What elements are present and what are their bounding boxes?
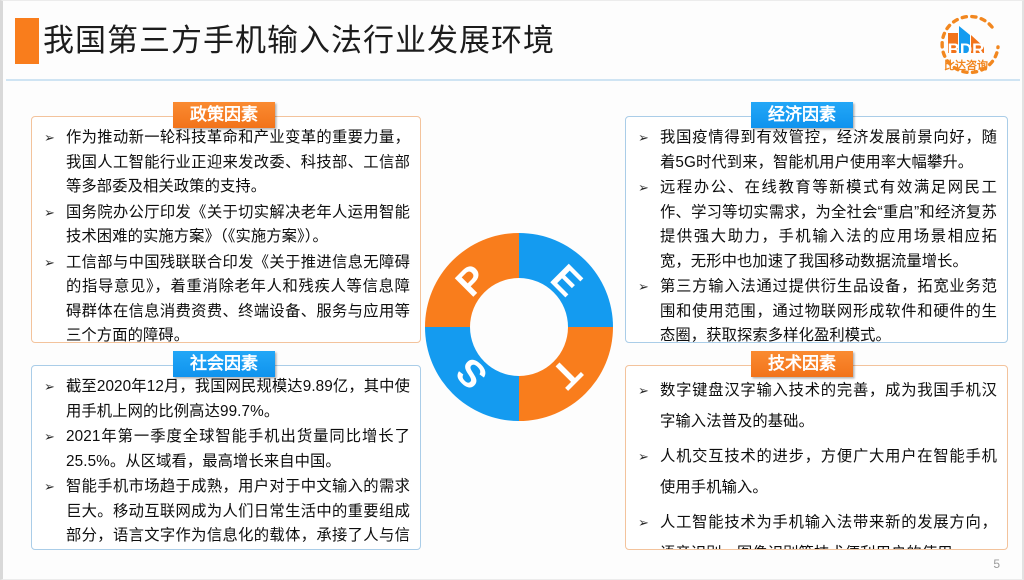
- list-item-text: 工信部与中国残联联合印发《关于推进信息无障碍的指导意见》，着重消除老年人和残疾人…: [66, 254, 410, 344]
- list-item-text: 我国疫情得到有效管控，经济发展前景向好，随着5G时代到来，智能机用户使用率大幅攀…: [660, 129, 997, 171]
- title-accent-bar: [15, 18, 39, 64]
- policy-bullet-list: ➢ 作为推动新一轮科技革命和产业变革的重要力量，我国人工智能行业正迎来发改委、科…: [40, 126, 410, 343]
- panel-society-factors: ➢ 截至2020年12月，我国网民规模达9.89亿，其中使用手机上网的比例高达9…: [31, 365, 421, 550]
- list-item: ➢ 2021年第一季度全球智能手机出货量同比增长了25.5%。从区域看，最高增长…: [40, 425, 410, 474]
- list-item: ➢ 智能手机市场趋于成熟，用户对于中文输入的需求巨大。移动互联网成为人们日常生活…: [40, 475, 410, 550]
- bdr-logo-icon: BDR 比达咨询: [922, 13, 1010, 75]
- technology-bullet-list: ➢ 数字键盘汉字输入技术的完善，成为我国手机汉字输入法普及的基础。 ➢ 人机交互…: [634, 375, 997, 550]
- header-divider: [6, 79, 1020, 81]
- list-item-text: 国务院办公厅印发《关于切实解决老年人运用智能技术困难的实施方案》（《实施方案》）…: [66, 204, 410, 246]
- badge-policy-factors: 政策因素: [173, 102, 275, 128]
- society-bullet-list: ➢ 截至2020年12月，我国网民规模达9.89亿，其中使用手机上网的比例高达9…: [40, 375, 410, 550]
- panel-policy-factors: ➢ 作为推动新一轮科技革命和产业变革的重要力量，我国人工智能行业正迎来发改委、科…: [31, 116, 421, 343]
- list-item-text: 数字键盘汉字输入技术的完善，成为我国手机汉字输入法普及的基础。: [660, 382, 997, 430]
- list-item-text: 人工智能技术为手机输入法带来新的发展方向，语音识别、图像识别等技术便利用户的使用…: [660, 514, 997, 550]
- svg-text:比达咨询: 比达咨询: [944, 58, 988, 72]
- list-item-text: 2021年第一季度全球智能手机出货量同比增长了25.5%。从区域看，最高增长来自…: [66, 428, 410, 470]
- bullet-arrow-icon: ➢: [44, 375, 55, 400]
- list-item-text: 第三方输入法通过提供衍生品设备，拓宽业务范围和使用范围，通过物联网形成软件和硬件…: [660, 278, 997, 343]
- list-item: ➢ 截至2020年12月，我国网民规模达9.89亿，其中使用手机上网的比例高达9…: [40, 375, 410, 424]
- list-item: ➢ 作为推动新一轮科技革命和产业变革的重要力量，我国人工智能行业正迎来发改委、科…: [40, 126, 410, 200]
- badge-economy-factors: 经济因素: [751, 102, 853, 128]
- list-item-text: 智能手机市场趋于成熟，用户对于中文输入的需求巨大。移动互联网成为人们日常生活中的…: [66, 478, 410, 550]
- badge-society-factors: 社会因素: [173, 351, 275, 377]
- list-item-text: 截至2020年12月，我国网民规模达9.89亿，其中使用手机上网的比例高达99.…: [66, 378, 410, 420]
- bullet-arrow-icon: ➢: [44, 251, 55, 276]
- bullet-arrow-icon: ➢: [638, 375, 649, 406]
- list-item: ➢ 数字键盘汉字输入技术的完善，成为我国手机汉字输入法普及的基础。: [634, 375, 997, 437]
- list-item-text: 远程办公、在线教育等新模式有效满足网民工作、学习等切实需求，为全社会“重启”和经…: [660, 179, 997, 270]
- bdr-logo: BDR 比达咨询: [922, 13, 1010, 75]
- list-item: ➢ 国务院办公厅印发《关于切实解决老年人运用智能技术困难的实施方案》（《实施方案…: [40, 201, 410, 250]
- bullet-arrow-icon: ➢: [638, 507, 649, 538]
- bullet-arrow-icon: ➢: [44, 475, 55, 500]
- bullet-arrow-icon: ➢: [638, 126, 649, 151]
- list-item-text: 作为推动新一轮科技革命和产业变革的重要力量，我国人工智能行业正迎来发改委、科技部…: [66, 129, 410, 195]
- bullet-arrow-icon: ➢: [44, 201, 55, 226]
- list-item: ➢ 人机交互技术的进步，方便广大用户在智能手机使用手机输入。: [634, 441, 997, 503]
- pest-donut-diagram: P E T S: [423, 231, 615, 423]
- list-item: ➢ 我国疫情得到有效管控，经济发展前景向好，随着5G时代到来，智能机用户使用率大…: [634, 126, 997, 175]
- badge-technology-factors: 技术因素: [751, 351, 853, 377]
- economy-bullet-list: ➢ 我国疫情得到有效管控，经济发展前景向好，随着5G时代到来，智能机用户使用率大…: [634, 126, 997, 343]
- list-item: ➢ 远程办公、在线教育等新模式有效满足网民工作、学习等切实需求，为全社会“重启”…: [634, 176, 997, 274]
- list-item: ➢ 人工智能技术为手机输入法带来新的发展方向，语音识别、图像识别等技术便利用户的…: [634, 507, 997, 550]
- list-item-text: 人机交互技术的进步，方便广大用户在智能手机使用手机输入。: [660, 448, 997, 496]
- page-title: 我国第三方手机输入法行业发展环境: [43, 19, 555, 63]
- panel-technology-factors: ➢ 数字键盘汉字输入技术的完善，成为我国手机汉字输入法普及的基础。 ➢ 人机交互…: [625, 365, 1008, 550]
- panel-economy-factors: ➢ 我国疫情得到有效管控，经济发展前景向好，随着5G时代到来，智能机用户使用率大…: [625, 116, 1008, 343]
- bullet-arrow-icon: ➢: [44, 126, 55, 151]
- list-item: ➢ 工信部与中国残联联合印发《关于推进信息无障碍的指导意见》，着重消除老年人和残…: [40, 251, 410, 344]
- page-number: 5: [993, 557, 1000, 571]
- bullet-arrow-icon: ➢: [44, 425, 55, 450]
- bullet-arrow-icon: ➢: [638, 176, 649, 201]
- list-item: ➢ 第三方输入法通过提供衍生品设备，拓宽业务范围和使用范围，通过物联网形成软件和…: [634, 275, 997, 343]
- bullet-arrow-icon: ➢: [638, 441, 649, 472]
- svg-text:BDR: BDR: [948, 40, 985, 59]
- slide-canvas: 我国第三方手机输入法行业发展环境 BDR 比达咨询: [0, 0, 1024, 580]
- bullet-arrow-icon: ➢: [638, 275, 649, 300]
